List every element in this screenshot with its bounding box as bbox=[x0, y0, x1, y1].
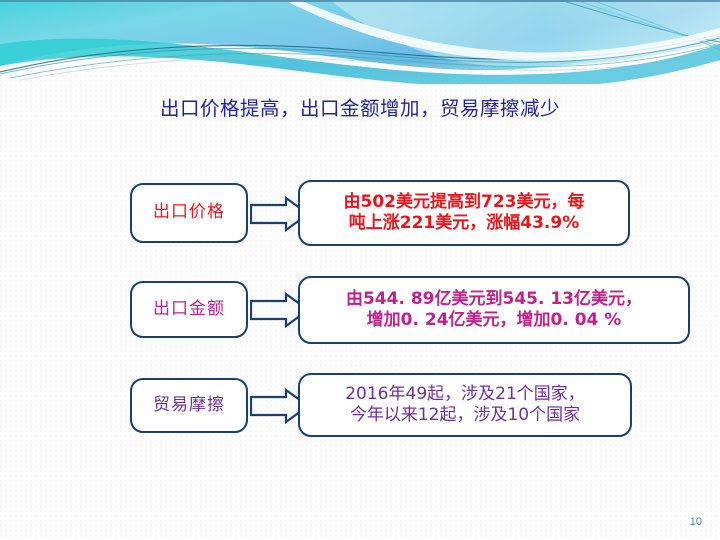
row-detail-line-2a: 由544. 89亿美元到545. 13亿美元， bbox=[310, 289, 678, 310]
slide-canvas: 出口价格提高，出口金额增加，贸易摩擦减少 出口价格 由502美元提高到723美元… bbox=[0, 0, 720, 540]
row-detail-box-2[interactable]: 由544. 89亿美元到545. 13亿美元， 增加0. 24亿美元，增加0. … bbox=[298, 276, 690, 344]
row-detail-box-1[interactable]: 由502美元提高到723美元，每 吨上涨221美元，涨幅43.9% bbox=[298, 180, 630, 246]
row-label-box-1[interactable]: 出口价格 bbox=[130, 183, 248, 243]
row-label-box-3[interactable]: 贸易摩擦 bbox=[130, 378, 248, 433]
header-wave-banner bbox=[0, 0, 720, 84]
row-detail-line-1a: 由502美元提高到723美元，每 bbox=[310, 192, 618, 213]
row-label-box-2[interactable]: 出口金额 bbox=[130, 281, 248, 338]
page-title: 出口价格提高，出口金额增加，贸易摩擦减少 bbox=[0, 92, 720, 121]
row-detail-line-1b: 吨上涨221美元，涨幅43.9% bbox=[310, 213, 618, 234]
row-detail-line-3a: 2016年49起，涉及21个国家， bbox=[310, 384, 620, 405]
row-detail-line-3b: 今年以来12起，涉及10个国家 bbox=[310, 405, 620, 426]
row-detail-line-2b: 增加0. 24亿美元，增加0. 04 % bbox=[310, 310, 678, 331]
page-number: 10 bbox=[690, 516, 702, 528]
row-detail-box-3[interactable]: 2016年49起，涉及21个国家， 今年以来12起，涉及10个国家 bbox=[298, 373, 632, 437]
